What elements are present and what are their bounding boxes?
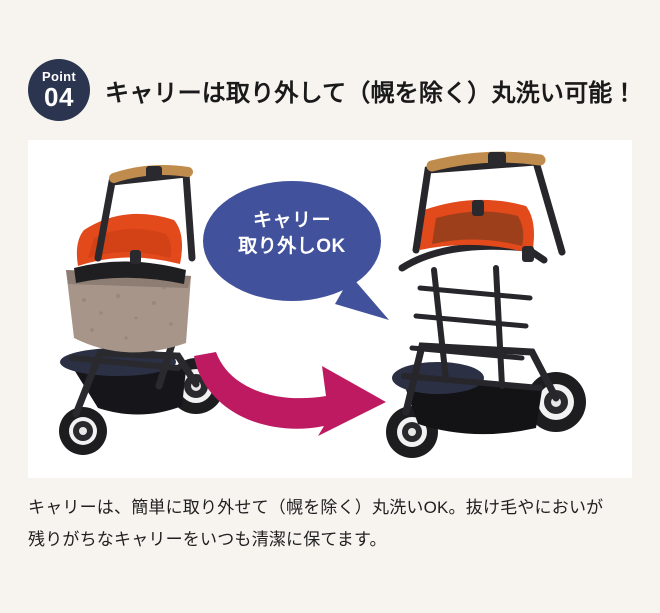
transition-arrow	[186, 338, 416, 448]
point-badge: Point 04	[28, 59, 90, 121]
point-header: Point 04 キャリーは取り外して（幌を除く）丸洗い可能！	[28, 58, 632, 122]
product-photo-panel: キャリー 取り外しOK	[28, 140, 632, 478]
point-badge-number: 04	[44, 84, 74, 110]
curved-arrow-icon	[186, 338, 416, 448]
page-title: キャリーは取り外して（幌を除く）丸洗い可能！	[105, 73, 637, 108]
caption-line-2: 残りがちなキャリーをいつも清潔に保てます。	[28, 524, 642, 556]
caption-line-1: キャリーは、簡単に取り外せて（幌を除く）丸洗いOK。抜け毛やにおいが	[28, 492, 642, 524]
speech-bubble-shape	[203, 178, 393, 338]
speech-bubble: キャリー 取り外しOK	[203, 178, 393, 338]
caption-block: キャリーは、簡単に取り外せて（幌を除く）丸洗いOK。抜け毛やにおいが 残りがちな…	[28, 492, 642, 556]
